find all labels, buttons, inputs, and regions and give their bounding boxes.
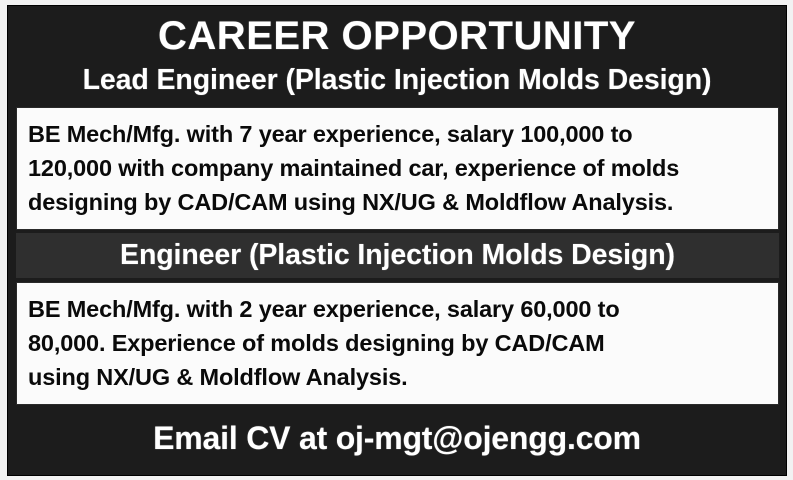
advertisement-body: CAREER OPPORTUNITY Lead Engineer (Plasti…: [7, 5, 787, 476]
advertisement-footer: Email CV at oj-mgt@ojengg.com: [8, 405, 786, 475]
advertisement-header: CAREER OPPORTUNITY Lead Engineer (Plasti…: [8, 6, 786, 104]
contact-email-line[interactable]: Email CV at oj-mgt@ojengg.com: [153, 417, 641, 459]
position-description-engineer: BE Mech/Mfg. with 2 year experience, sal…: [16, 282, 779, 405]
position-title-engineer: Engineer (Plastic Injection Molds Design…: [16, 236, 779, 274]
position-description-lead-engineer: BE Mech/Mfg. with 7 year experience, sal…: [16, 107, 779, 230]
description-line: BE Mech/Mfg. with 2 year experience, sal…: [28, 292, 767, 326]
description-line: 120,000 with company maintained car, exp…: [28, 151, 767, 185]
page-title: CAREER OPPORTUNITY: [8, 12, 786, 60]
position-header-engineer: Engineer (Plastic Injection Molds Design…: [16, 233, 779, 278]
description-line: designing by CAD/CAM using NX/UG & Moldf…: [28, 185, 767, 219]
career-opportunity-advertisement: CAREER OPPORTUNITY Lead Engineer (Plasti…: [0, 0, 793, 480]
description-line: using NX/UG & Moldflow Analysis.: [28, 360, 767, 394]
description-line: 80,000. Experience of molds designing by…: [28, 326, 767, 360]
description-line: BE Mech/Mfg. with 7 year experience, sal…: [28, 117, 767, 151]
position-title-lead-engineer: Lead Engineer (Plastic Injection Molds D…: [8, 60, 786, 100]
